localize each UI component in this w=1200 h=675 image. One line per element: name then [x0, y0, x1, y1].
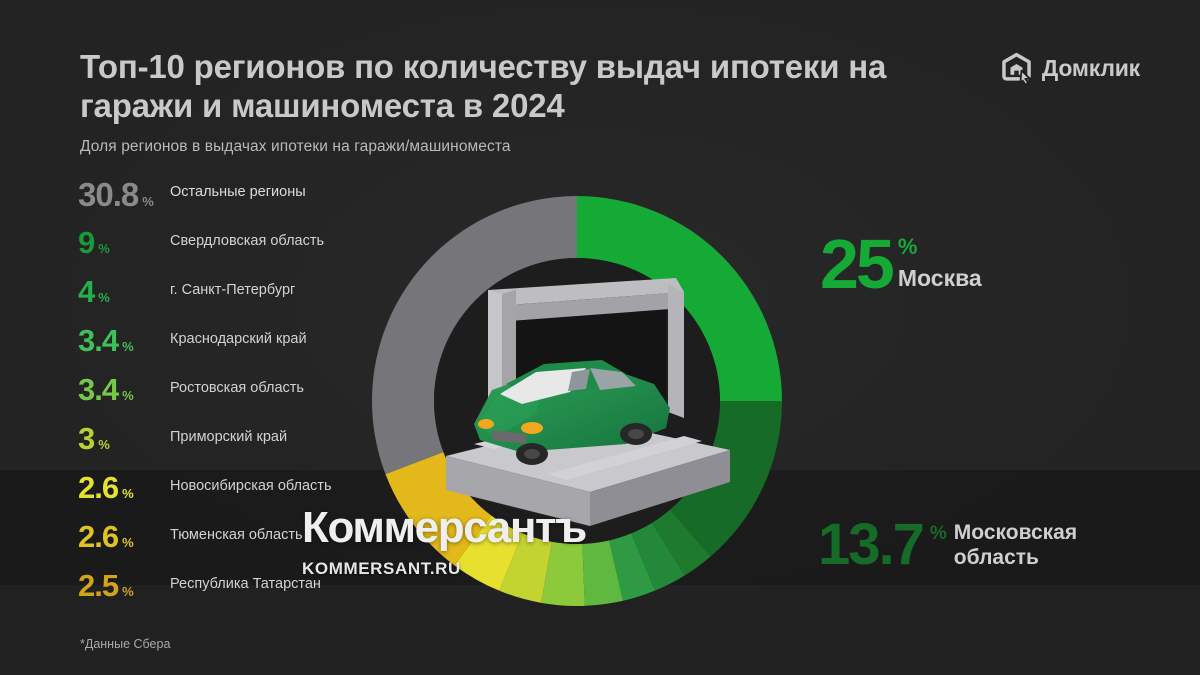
list-item[interactable]: 3.4 % Краснодарский край	[78, 325, 368, 365]
legend-value: 2.5	[78, 570, 118, 601]
callout-percent-symbol: %	[930, 523, 947, 545]
legend-value: 3.4	[78, 374, 118, 405]
list-item[interactable]: 9 % Свердловская область	[78, 227, 368, 267]
callout-value: 25	[820, 232, 892, 296]
page-subtitle: Доля регионов в выдачах ипотеки на гараж…	[80, 138, 800, 156]
watermark-url: KOMMERSANT.RU	[302, 559, 586, 579]
watermark-title: Коммерсантъ	[302, 506, 586, 550]
legend-value: 9	[78, 227, 94, 258]
legend-label: Тюменская область	[170, 521, 303, 545]
legend-percent-symbol: %	[122, 486, 134, 501]
car-wheel-front-hub	[524, 449, 540, 459]
page-title: Топ-10 регионов по количеству выдач ипот…	[80, 48, 940, 126]
legend-value: 3.4	[78, 325, 118, 356]
logo-wordmark: Домклик	[1042, 55, 1140, 82]
legend-percent-symbol: %	[122, 388, 134, 403]
legend-value: 2.6	[78, 472, 118, 503]
legend-label: Республика Татарстан	[170, 570, 321, 594]
legend-label: Новосибирская область	[170, 472, 332, 496]
domclick-house-icon	[1000, 52, 1033, 85]
callout-percent-symbol: %	[898, 234, 982, 260]
legend-percent-symbol: %	[122, 584, 134, 599]
legend-percent-symbol: %	[98, 290, 110, 305]
legend-label: Остальные регионы	[170, 178, 306, 202]
parking-garage-with-car-3d-illustration	[440, 268, 740, 526]
callout-moscow: 25 % Москва	[820, 232, 982, 296]
list-item[interactable]: 30.8 % Остальные регионы	[78, 178, 368, 218]
list-item[interactable]: 3 % Приморский край	[78, 423, 368, 463]
legend-label: г. Санкт-Петербург	[170, 276, 295, 300]
callout-moscow-region: 13.7 % Московская область	[818, 518, 1124, 571]
car-headlight-left	[478, 419, 494, 429]
legend-value: 4	[78, 276, 94, 307]
legend-percent-symbol: %	[98, 437, 110, 452]
list-item[interactable]: 4 % г. Санкт-Петербург	[78, 276, 368, 316]
legend-percent-symbol: %	[98, 241, 110, 256]
legend-percent-symbol: %	[142, 194, 154, 209]
garage-right-pillar	[668, 284, 684, 418]
legend-percent-symbol: %	[122, 535, 134, 550]
legend-label: Ростовская область	[170, 374, 304, 398]
domclick-logo[interactable]: Домклик	[1000, 52, 1140, 85]
kommersant-watermark: Коммерсантъ KOMMERSANT.RU	[302, 506, 586, 579]
car-wheel-rear-hub	[628, 429, 644, 439]
callout-label: Москва	[898, 265, 982, 293]
legend-value: 3	[78, 423, 94, 454]
legend-value: 2.6	[78, 521, 118, 552]
source-footnote: *Данные Сбера	[80, 637, 170, 651]
garage-car-svg	[440, 268, 740, 526]
callout-value: 13.7	[818, 518, 923, 571]
legend-percent-symbol: %	[122, 339, 134, 354]
legend-value: 30.8	[78, 178, 138, 211]
legend-label: Свердловская область	[170, 227, 324, 251]
legend-label: Приморский край	[170, 423, 287, 447]
list-item[interactable]: 3.4 % Ростовская область	[78, 374, 368, 414]
car-headlight-right	[521, 422, 543, 434]
infographic-canvas: Топ-10 регионов по количеству выдач ипот…	[0, 0, 1200, 675]
legend-label: Краснодарский край	[170, 325, 307, 349]
callout-label: Московская область	[954, 520, 1124, 570]
